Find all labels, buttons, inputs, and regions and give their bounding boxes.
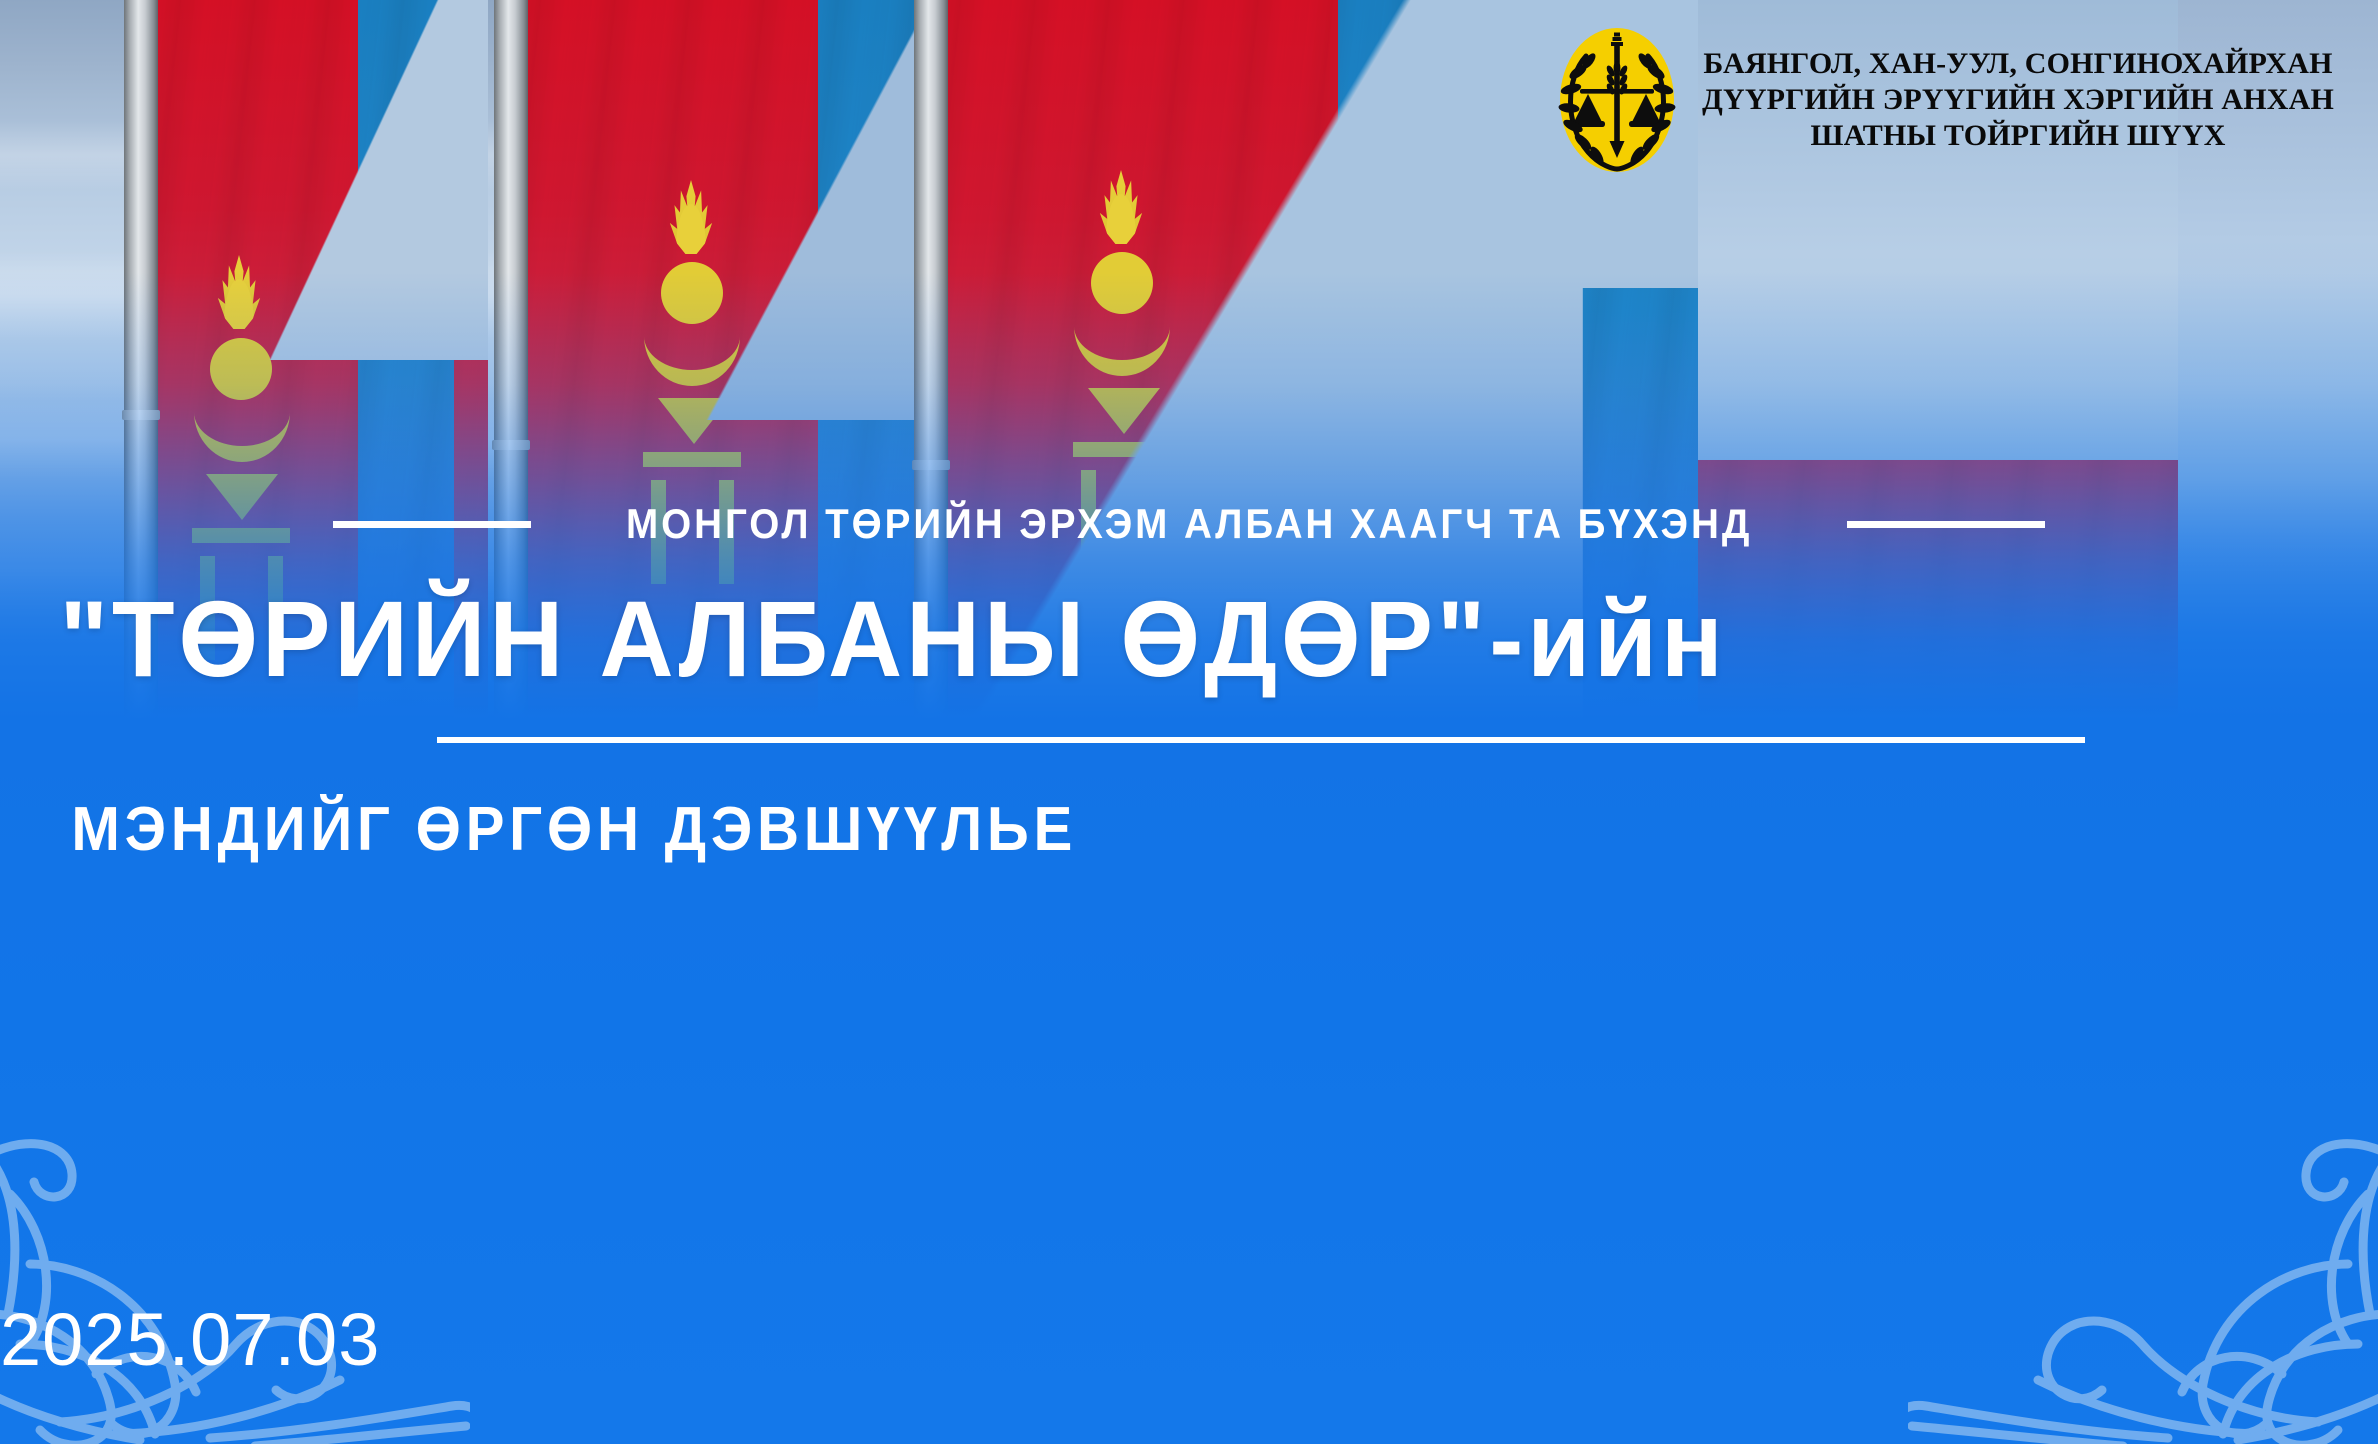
scales-of-justice-wreath-emblem-icon	[1558, 26, 1676, 174]
court-name-line-1: БАЯНГОЛ, ХАН-УУЛ, СОНГИНОХАЙРХАН	[1702, 46, 2334, 82]
poster-canvas: БАЯНГОЛ, ХАН-УУЛ, СОНГИНОХАЙРХАН ДҮҮРГИЙ…	[0, 0, 2378, 1444]
page-title: "ТӨРИЙН АЛБАНЫ ӨДӨР"-ийн	[59, 582, 2318, 696]
court-name: БАЯНГОЛ, ХАН-УУЛ, СОНГИНОХАЙРХАН ДҮҮРГИЙ…	[1702, 46, 2334, 155]
title-underline-rule	[437, 737, 2085, 743]
court-name-line-2: ДҮҮРГИЙН ЭРҮҮГИЙН ХЭРГИЙН АНХАН	[1702, 82, 2334, 118]
eyebrow-rule-right	[1847, 521, 2045, 528]
event-date: 2025.07.03	[0, 1297, 2378, 1382]
eyebrow-row: МОНГОЛ ТӨРИЙН ЭРХЭМ АЛБАН ХААГЧ ТА БҮХЭН…	[0, 500, 2378, 548]
eyebrow-text: МОНГОЛ ТӨРИЙН ЭРХЭМ АЛБАН ХААГЧ ТА БҮХЭН…	[626, 500, 1752, 548]
court-header: БАЯНГОЛ, ХАН-УУЛ, СОНГИНОХАЙРХАН ДҮҮРГИЙ…	[1558, 26, 2334, 174]
page-subtitle: МЭНДИЙГ ӨРГӨН ДЭВШҮҮЛЬЕ	[71, 794, 2306, 865]
court-name-line-3: ШАТНЫ ТОЙРГИЙН ШҮҮХ	[1702, 118, 2334, 154]
eyebrow-rule-left	[333, 521, 531, 528]
